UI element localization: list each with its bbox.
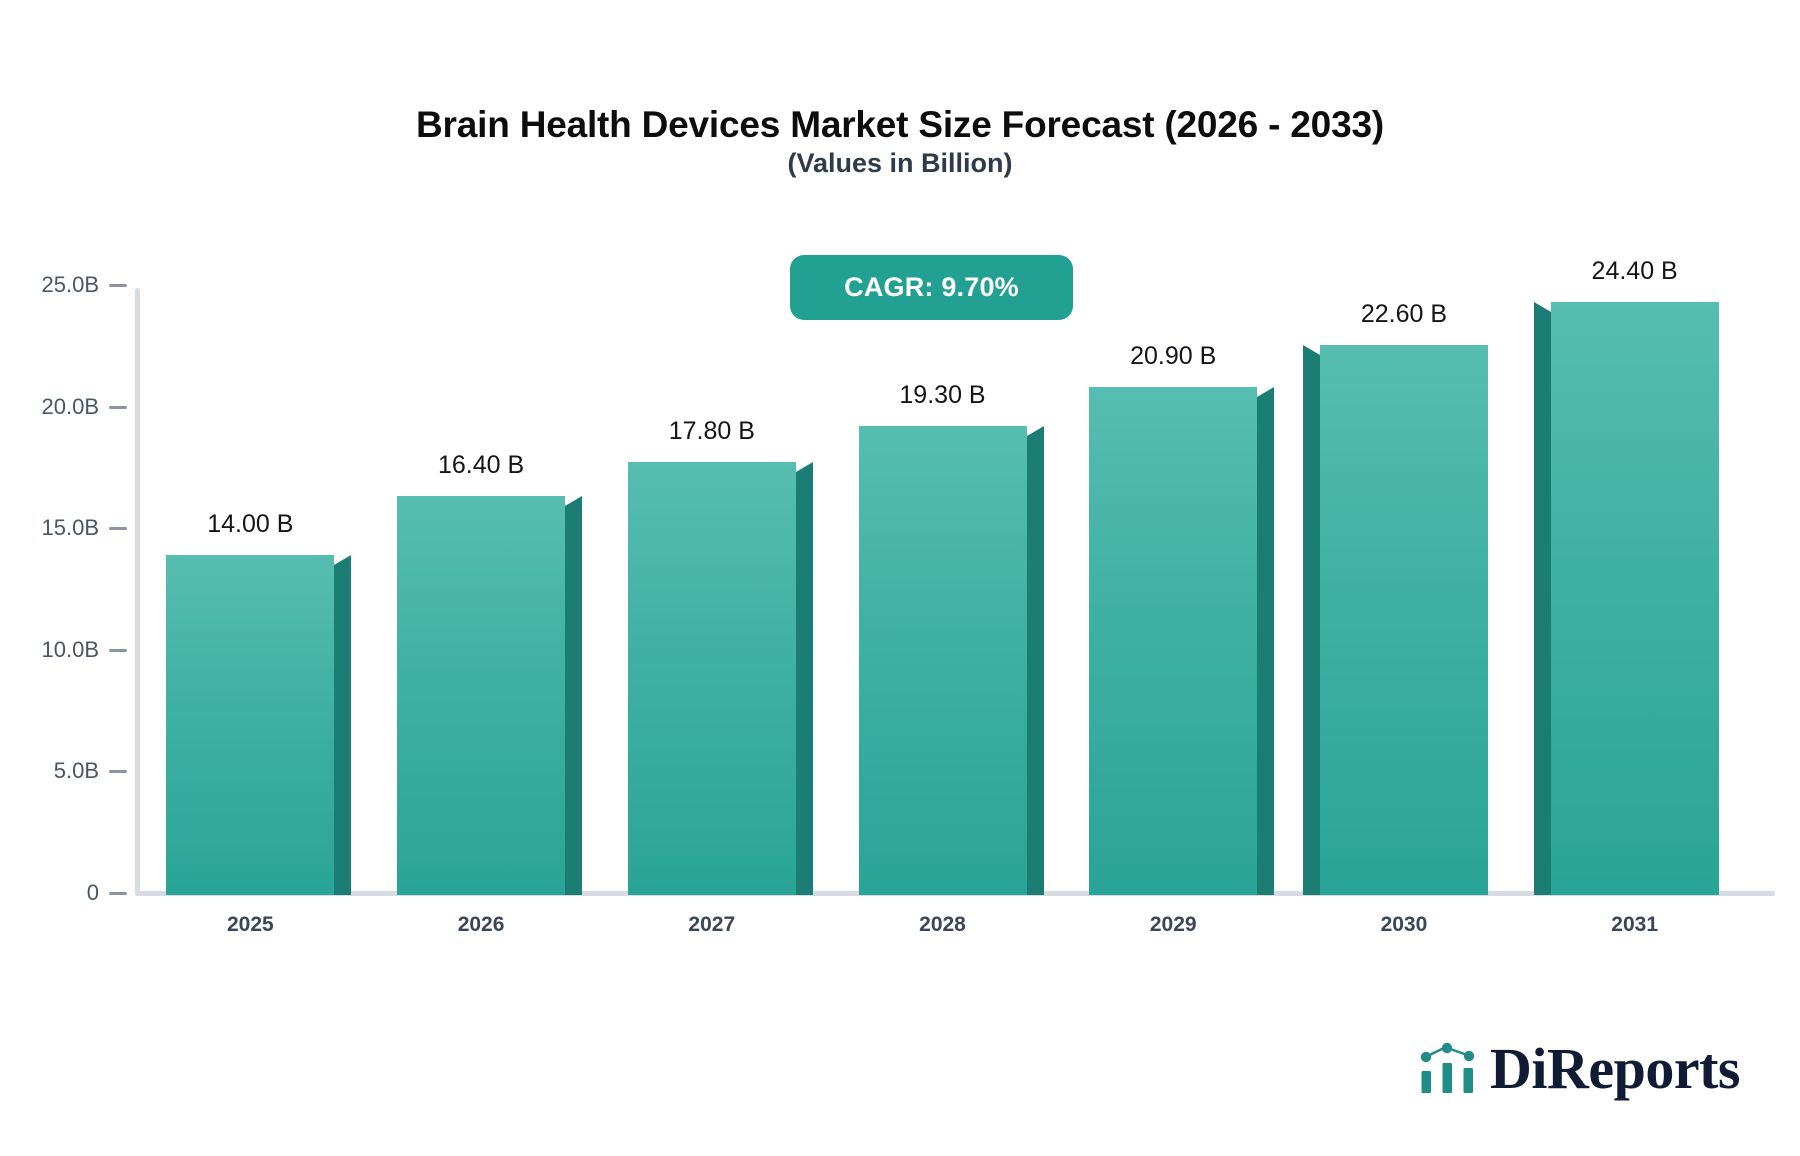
bar-top-face bbox=[796, 462, 813, 472]
bar-value-label: 20.90 B bbox=[1130, 342, 1216, 371]
bar-2029[interactable]: 20.90 B bbox=[1089, 387, 1257, 895]
plot-area: 14.00 B16.40 B17.80 B19.30 B20.90 B22.60… bbox=[135, 285, 1750, 895]
bar-2031[interactable]: 24.40 B bbox=[1551, 302, 1719, 895]
bar-front-face bbox=[859, 426, 1027, 895]
bar-top-face bbox=[334, 555, 351, 565]
bar-front-face bbox=[1320, 345, 1488, 895]
y-tick-label: 15.0B bbox=[42, 515, 100, 541]
direports-logo: DiReports bbox=[1418, 1040, 1740, 1098]
bar-side-face bbox=[796, 472, 813, 895]
chart-canvas: Brain Health Devices Market Size Forecas… bbox=[0, 0, 1800, 1156]
y-tick-mark bbox=[109, 649, 127, 652]
y-tick-label: 5.0B bbox=[54, 758, 99, 784]
y-tick-mark bbox=[109, 892, 127, 895]
y-tick-label: 25.0B bbox=[42, 272, 100, 298]
bar-value-label: 16.40 B bbox=[438, 451, 524, 480]
bar-front-face bbox=[1551, 302, 1719, 895]
bar-top-face bbox=[565, 496, 582, 506]
bar-top-face bbox=[1027, 426, 1044, 436]
y-tick-label: 0 bbox=[87, 880, 99, 906]
bar-value-label: 14.00 B bbox=[207, 510, 293, 539]
bar-2025[interactable]: 14.00 B bbox=[166, 555, 334, 895]
chart-title: Brain Health Devices Market Size Forecas… bbox=[0, 104, 1800, 146]
logo-text: DiReports bbox=[1490, 1040, 1740, 1098]
x-axis-label-2030: 2030 bbox=[1381, 913, 1428, 937]
bar-side-face bbox=[334, 565, 351, 895]
bar-side-face bbox=[1534, 312, 1551, 895]
bar-2028[interactable]: 19.30 B bbox=[859, 426, 1027, 895]
bar-front-face bbox=[397, 496, 565, 895]
bar-side-face bbox=[1257, 397, 1274, 895]
bar-2027[interactable]: 17.80 B bbox=[628, 462, 796, 895]
bar-value-label: 17.80 B bbox=[669, 417, 755, 446]
bar-value-label: 24.40 B bbox=[1592, 257, 1678, 286]
bar-top-face bbox=[1534, 302, 1551, 312]
y-tick-mark bbox=[109, 527, 127, 530]
x-axis-label-2028: 2028 bbox=[919, 913, 966, 937]
x-axis-label-2026: 2026 bbox=[458, 913, 505, 937]
cagr-badge: CAGR: 9.70% bbox=[790, 255, 1073, 320]
x-axis-label-2031: 2031 bbox=[1611, 913, 1658, 937]
y-tick-mark bbox=[109, 770, 127, 773]
bar-side-face bbox=[565, 506, 582, 895]
y-tick-mark bbox=[109, 406, 127, 409]
y-tick-label: 10.0B bbox=[42, 637, 100, 663]
bar-value-label: 22.60 B bbox=[1361, 300, 1447, 329]
bar-2030[interactable]: 22.60 B bbox=[1320, 345, 1488, 895]
bar-side-face bbox=[1303, 355, 1320, 895]
bar-side-face bbox=[1027, 436, 1044, 895]
bar-top-face bbox=[1303, 345, 1320, 355]
bar-front-face bbox=[628, 462, 796, 895]
bar-front-face bbox=[166, 555, 334, 895]
y-tick-mark bbox=[109, 284, 127, 287]
x-axis-label-2029: 2029 bbox=[1150, 913, 1197, 937]
bar-2026[interactable]: 16.40 B bbox=[397, 496, 565, 895]
x-axis-label-2027: 2027 bbox=[688, 913, 735, 937]
bar-front-face bbox=[1089, 387, 1257, 895]
bar-top-face bbox=[1257, 387, 1274, 397]
bar-chart-logo-icon bbox=[1418, 1041, 1480, 1097]
x-axis-label-2025: 2025 bbox=[227, 913, 274, 937]
bar-value-label: 19.30 B bbox=[899, 381, 985, 410]
y-tick-label: 20.0B bbox=[42, 394, 100, 420]
chart-subtitle: (Values in Billion) bbox=[0, 148, 1800, 179]
